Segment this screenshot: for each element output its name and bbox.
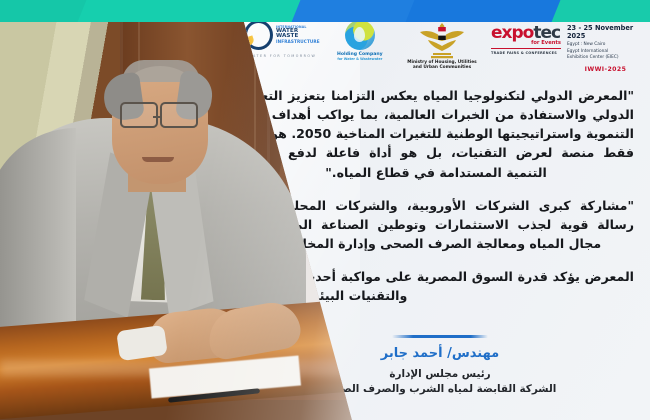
- stripe-teal-3: [549, 0, 650, 22]
- expotec-sub: for Events: [531, 40, 561, 46]
- water-droplet-globe-icon: [345, 20, 375, 50]
- decorative-top-stripes: [0, 0, 650, 22]
- ministry-line2: and Urban Communities: [413, 65, 471, 70]
- stripe-blue-2: [403, 0, 567, 22]
- event-venue: Egypt : New Cairo Egypt International Ex…: [567, 42, 644, 61]
- event-dates: 23 - 25 November 2025: [567, 24, 644, 40]
- quote-poster: INTERNATIONAL WATER WASTE INFRASTRUCTURE…: [0, 0, 650, 420]
- holding-company-logo: Holding Company for Water & Wastewater: [327, 20, 393, 61]
- expotec-word-a: expo: [491, 23, 533, 43]
- signature-divider: [392, 335, 488, 338]
- logo-strip: INTERNATIONAL WATER WASTE INFRASTRUCTURE…: [244, 20, 644, 74]
- stripe-teal-2: [75, 0, 309, 22]
- expotec-tagline: TRADE FAIRS & CONFERENCES: [491, 51, 557, 55]
- iwwi-line3: INFRASTRUCTURE: [276, 40, 321, 44]
- iwwi-tagline: WATER FOR TOMORROW: [248, 54, 316, 58]
- eagle-of-saladin-icon: [419, 20, 465, 60]
- event-code: IWWI-2025: [567, 66, 644, 73]
- stripe-blue-1: [289, 0, 423, 22]
- expotec-divider: [491, 48, 561, 49]
- holding-company-line2: for Water & Wastewater: [337, 57, 382, 61]
- expotec-logo: expotec for Events TRADE FAIRS & CONFERE…: [491, 20, 561, 55]
- iwwi-logo: INTERNATIONAL WATER WASTE INFRASTRUCTURE…: [244, 20, 321, 58]
- quote-paragraph-1: "المعرض الدولي لتكنولوجيا المياه يعكس ال…: [238, 86, 634, 182]
- venue-line3: Exhibition Center (EIEC): [567, 55, 644, 61]
- ministry-emblem: Ministry of Housing, Utilities and Urban…: [399, 20, 485, 71]
- expotec-wordmark: expotec: [491, 26, 560, 41]
- event-details: 23 - 25 November 2025 Egypt : New Cairo …: [567, 20, 644, 73]
